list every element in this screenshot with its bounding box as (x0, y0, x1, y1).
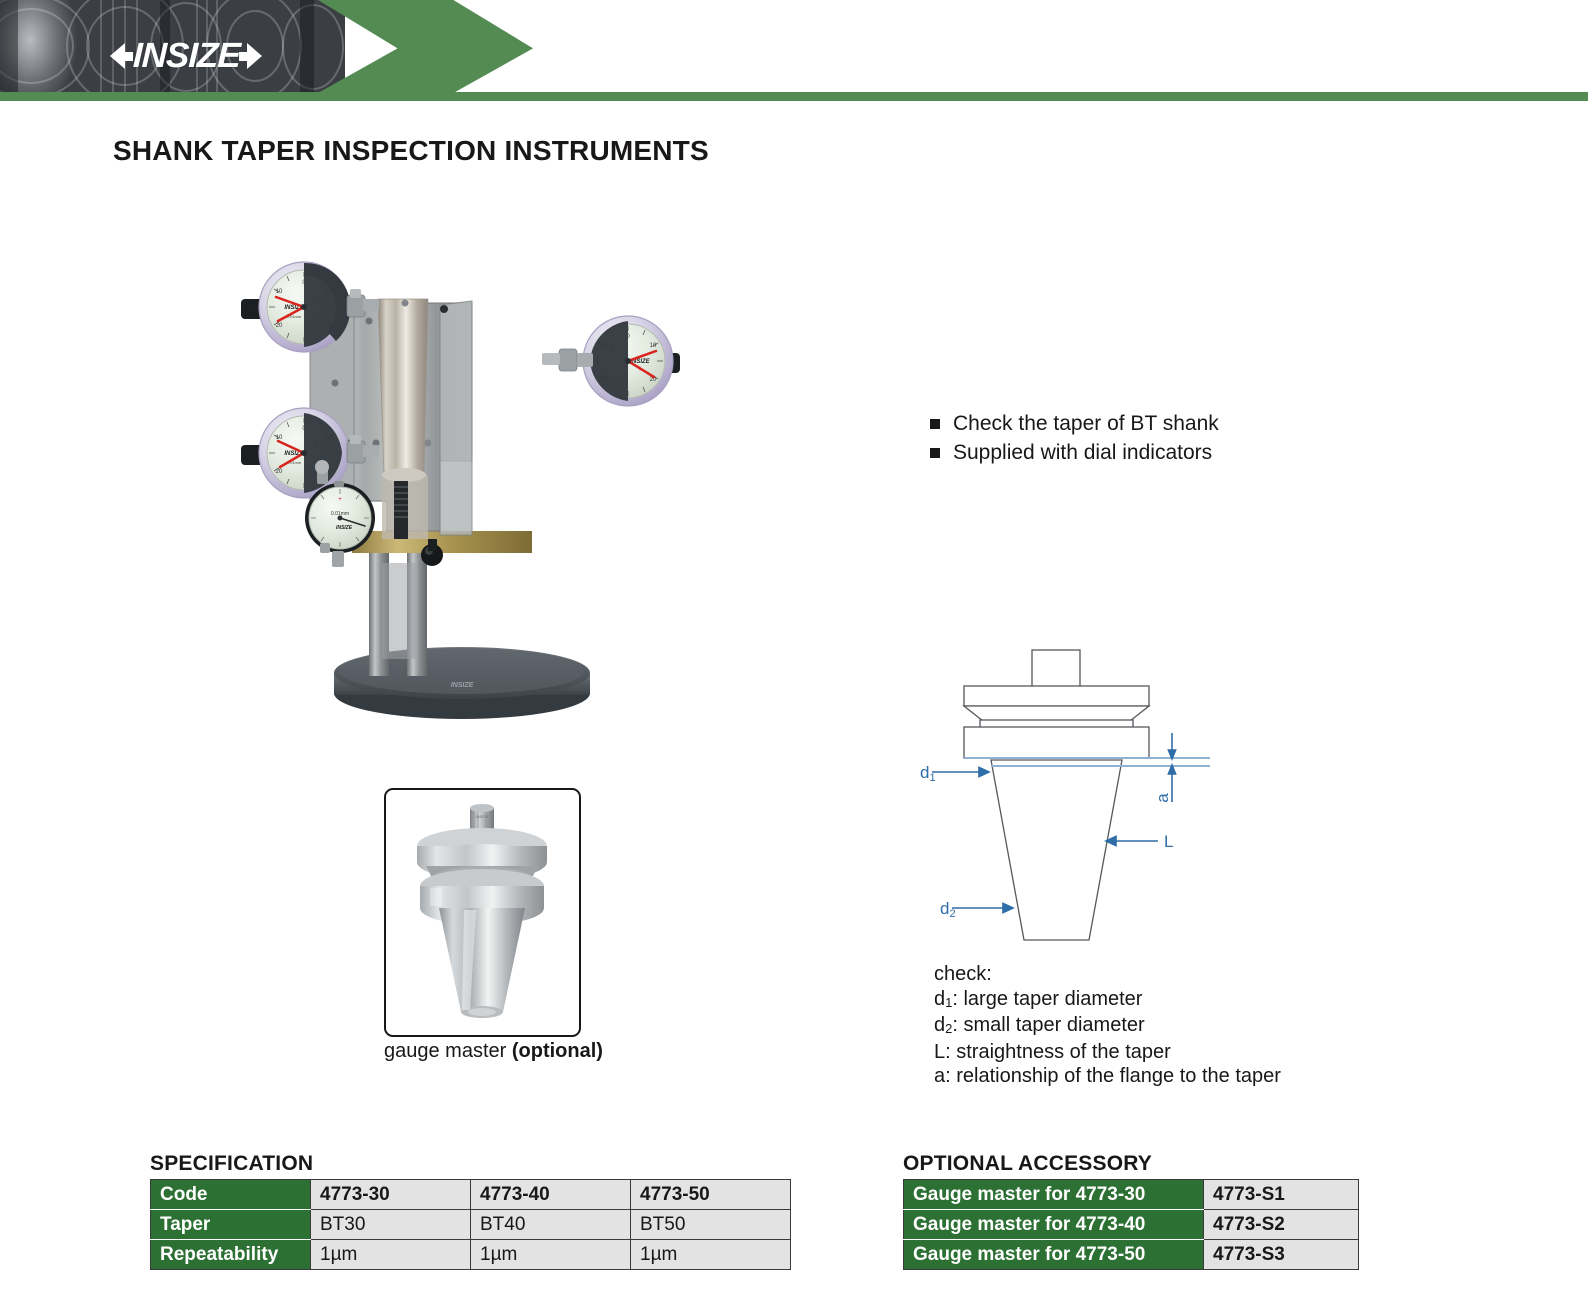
logo-bar-right (239, 52, 247, 61)
accessory-cell: 4773-S1 (1204, 1180, 1359, 1210)
svg-text:INSIZE: INSIZE (476, 814, 489, 819)
optional-accessory-heading: OPTIONAL ACCESSORY (903, 1152, 1152, 1176)
spec-cell: 1µm (311, 1240, 471, 1270)
check-legend-title: check: (934, 962, 1281, 987)
spec-cell: 4773-30 (311, 1180, 471, 1210)
svg-text:INSIZE: INSIZE (336, 525, 353, 531)
spec-row-label: Taper (151, 1210, 311, 1240)
svg-text:10: 10 (650, 343, 657, 349)
square-bullet-icon (930, 448, 940, 458)
spec-cell: 4773-40 (471, 1180, 631, 1210)
bt-shank-taper-diagram: a d1 d2 L (890, 620, 1220, 950)
check-legend-item-d2: d2: small taper diameter (934, 1013, 1281, 1040)
spec-cell: BT30 (311, 1210, 471, 1240)
arrow-left-icon (110, 43, 125, 69)
accessory-row-label: Gauge master for 4773-50 (904, 1240, 1204, 1270)
square-bullet-icon (930, 419, 940, 429)
label-d1: d1 (920, 763, 936, 784)
header-green-chevron (318, 0, 533, 93)
gauge-master-caption-normal: gauge master (384, 1040, 512, 1062)
label-d2: d2 (940, 899, 956, 920)
check-legend: check: d1: large taper diameter d2: smal… (934, 962, 1281, 1089)
feature-item: Check the taper of BT shank (930, 411, 1219, 436)
header-green-bar (0, 92, 1588, 101)
gauge-master-illustration: INSIZE (386, 790, 579, 1035)
table-row: Taper BT30 BT40 BT50 (151, 1210, 791, 1240)
table-row: Gauge master for 4773-50 4773-S3 (904, 1240, 1359, 1270)
check-legend-item-L: L: straightness of the taper (934, 1040, 1281, 1065)
spec-cell: BT50 (631, 1210, 791, 1240)
product-catalog-page: INSIZE SHANK TAPER INSPECTION INSTRUMENT… (0, 0, 1588, 1300)
taper-diagram-svg: a d1 d2 L (890, 620, 1220, 950)
svg-text:20: 20 (276, 323, 283, 329)
gauge-master-caption-bold: (optional) (512, 1040, 603, 1062)
table-row: Code 4773-30 4773-40 4773-50 (151, 1180, 791, 1210)
logo-bar-left (125, 52, 133, 61)
check-legend-item-d1: d1: large taper diameter (934, 987, 1281, 1014)
instrument-illustration: INSIZE (232, 243, 692, 723)
specification-heading: SPECIFICATION (150, 1152, 313, 1176)
dial-indicator-right: 0 10 20 10 20 + + INSIZE (542, 316, 680, 406)
specification-table: Code 4773-30 4773-40 4773-50 Taper BT30 … (150, 1179, 791, 1270)
table-row: Gauge master for 4773-30 4773-S1 (904, 1180, 1359, 1210)
label-L: L (1164, 832, 1173, 851)
svg-text:20: 20 (276, 469, 283, 475)
page-header: INSIZE (0, 0, 1588, 101)
svg-text:10: 10 (276, 435, 283, 441)
shank-taper-inspection-instrument-photo: INSIZE (232, 243, 692, 723)
gauge-master-caption: gauge master (optional) (384, 1040, 584, 1063)
spec-row-label: Code (151, 1180, 311, 1210)
svg-text:10: 10 (276, 289, 283, 295)
table-row: Gauge master for 4773-40 4773-S2 (904, 1210, 1359, 1240)
accessory-cell: 4773-S2 (1204, 1210, 1359, 1240)
label-a: a (1153, 793, 1172, 803)
table-row: Repeatability 1µm 1µm 1µm (151, 1240, 791, 1270)
feature-text: Supplied with dial indicators (953, 440, 1212, 465)
accessory-row-label: Gauge master for 4773-30 (904, 1180, 1204, 1210)
logo-text: INSIZE (132, 38, 240, 74)
spec-cell: 1µm (631, 1240, 791, 1270)
spec-cell: 4773-50 (631, 1180, 791, 1210)
accessory-row-label: Gauge master for 4773-40 (904, 1210, 1204, 1240)
spec-cell: 1µm (471, 1240, 631, 1270)
page-title: SHANK TAPER INSPECTION INSTRUMENTS (113, 135, 709, 167)
check-legend-item-a: a: relationship of the flange to the tap… (934, 1064, 1281, 1089)
svg-text:+: + (338, 497, 342, 503)
optional-accessory-table: Gauge master for 4773-30 4773-S1 Gauge m… (903, 1179, 1359, 1270)
feature-list: Check the taper of BT shank Supplied wit… (930, 411, 1219, 469)
spec-cell: BT40 (471, 1210, 631, 1240)
feature-item: Supplied with dial indicators (930, 440, 1219, 465)
arrow-right-icon (247, 43, 262, 69)
svg-text:INSIZE: INSIZE (451, 682, 474, 689)
feature-text: Check the taper of BT shank (953, 411, 1219, 436)
gauge-master-photo: INSIZE (384, 788, 581, 1037)
accessory-cell: 4773-S3 (1204, 1240, 1359, 1270)
spec-row-label: Repeatability (151, 1240, 311, 1270)
insize-logo: INSIZE (96, 33, 276, 79)
